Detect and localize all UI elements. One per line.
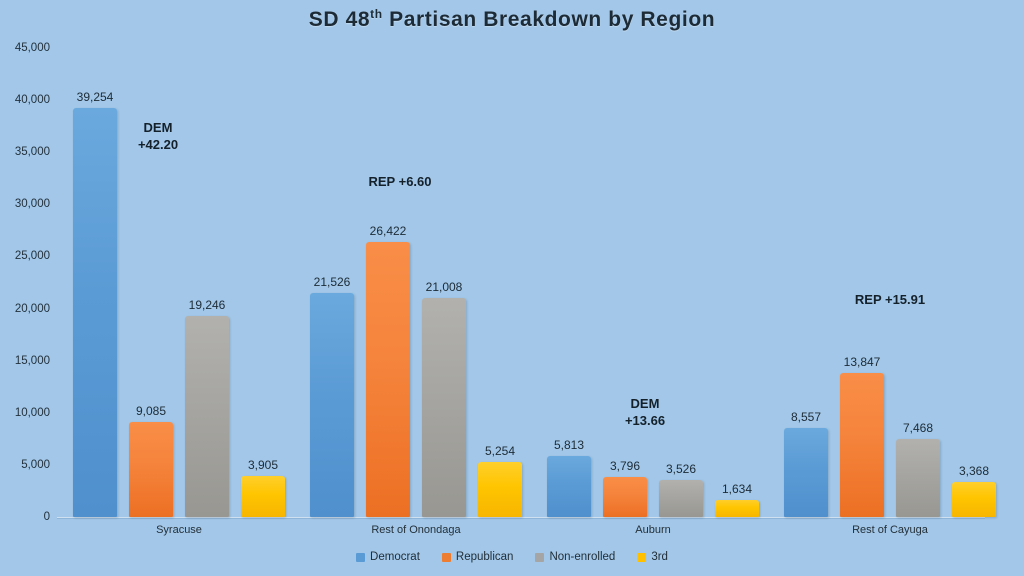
y-axis-tick: 0 xyxy=(2,511,50,523)
bar-value-label: 9,085 xyxy=(136,404,166,418)
bar[interactable] xyxy=(952,482,996,517)
bar-value-label: 39,254 xyxy=(77,90,114,104)
y-axis-tick: 5,000 xyxy=(2,459,50,471)
bar-value-label: 1,634 xyxy=(722,482,752,496)
legend-item[interactable]: 3rd xyxy=(637,551,668,563)
legend-label: 3rd xyxy=(651,551,668,563)
plot-area: 05,00010,00015,00020,00025,00030,00035,0… xyxy=(0,0,1024,576)
legend-item[interactable]: Republican xyxy=(442,551,514,563)
y-axis-tick: 30,000 xyxy=(2,198,50,210)
category-label: Syracuse xyxy=(156,524,202,536)
bar-value-label: 26,422 xyxy=(370,224,407,238)
bar-value-label: 7,468 xyxy=(903,421,933,435)
bar[interactable] xyxy=(603,477,647,517)
margin-annotation: REP +6.60 xyxy=(368,174,431,191)
bar-value-label: 3,526 xyxy=(666,462,696,476)
y-axis-tick: 15,000 xyxy=(2,355,50,367)
y-axis-tick: 45,000 xyxy=(2,42,50,54)
y-axis-tick: 10,000 xyxy=(2,407,50,419)
bar[interactable] xyxy=(784,428,828,517)
bar[interactable] xyxy=(241,476,285,517)
bar[interactable] xyxy=(715,500,759,517)
bar[interactable] xyxy=(185,316,229,517)
bar-value-label: 3,796 xyxy=(610,459,640,473)
legend-item[interactable]: Non-enrolled xyxy=(535,551,615,563)
bar-value-label: 19,246 xyxy=(189,298,226,312)
bar-value-label: 5,813 xyxy=(554,438,584,452)
y-axis-tick: 20,000 xyxy=(2,303,50,315)
margin-annotation: DEM +42.20 xyxy=(138,120,178,153)
chart-legend: DemocratRepublicanNon-enrolled3rd xyxy=(0,551,1024,563)
bar[interactable] xyxy=(129,422,173,517)
category-label: Auburn xyxy=(635,524,670,536)
bar[interactable] xyxy=(840,373,884,517)
bar-value-label: 13,847 xyxy=(844,355,881,369)
bar-value-label: 8,557 xyxy=(791,410,821,424)
chart-container: SD 48th Partisan Breakdown by Region 05,… xyxy=(0,0,1024,576)
legend-item[interactable]: Democrat xyxy=(356,551,420,563)
margin-annotation: DEM +13.66 xyxy=(625,396,665,429)
bar[interactable] xyxy=(366,242,410,517)
legend-label: Non-enrolled xyxy=(549,551,615,563)
y-axis-tick: 25,000 xyxy=(2,250,50,262)
bar[interactable] xyxy=(422,298,466,517)
bar-value-label: 3,905 xyxy=(248,458,278,472)
legend-swatch-icon xyxy=(535,553,544,562)
bar[interactable] xyxy=(659,480,703,517)
bar-value-label: 5,254 xyxy=(485,444,515,458)
category-label: Rest of Cayuga xyxy=(852,524,928,536)
bar-value-label: 21,008 xyxy=(426,280,463,294)
bar-value-label: 3,368 xyxy=(959,464,989,478)
y-axis-tick: 35,000 xyxy=(2,146,50,158)
legend-swatch-icon xyxy=(356,553,365,562)
y-axis-tick: 40,000 xyxy=(2,94,50,106)
bar-value-label: 21,526 xyxy=(314,275,351,289)
legend-label: Republican xyxy=(456,551,514,563)
x-axis-line xyxy=(57,517,985,519)
bar[interactable] xyxy=(310,293,354,517)
margin-annotation: REP +15.91 xyxy=(855,292,925,309)
bar[interactable] xyxy=(896,439,940,517)
legend-swatch-icon xyxy=(442,553,451,562)
bar[interactable] xyxy=(73,108,117,517)
legend-label: Democrat xyxy=(370,551,420,563)
category-label: Rest of Onondaga xyxy=(371,524,460,536)
legend-swatch-icon xyxy=(637,553,646,562)
bar[interactable] xyxy=(547,456,591,517)
bar[interactable] xyxy=(478,462,522,517)
